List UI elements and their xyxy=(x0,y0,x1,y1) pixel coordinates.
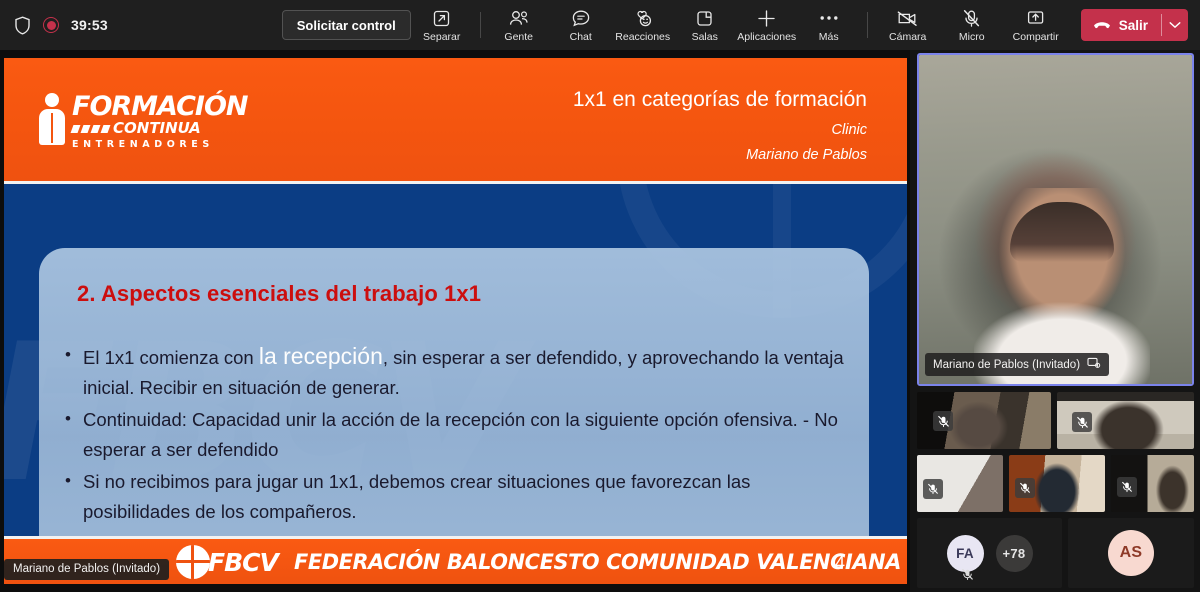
overflow-participants-badge[interactable]: +78 xyxy=(996,535,1033,572)
separate-label: Separar xyxy=(423,32,460,43)
toolbar-divider-2 xyxy=(867,12,868,38)
formacion-continua-logo: FORMACIÓN CONTINUA ENTRENADORES xyxy=(39,93,248,150)
mic-off-icon xyxy=(960,566,976,582)
participant-thumbnail[interactable] xyxy=(1057,392,1194,449)
people-button[interactable]: Gente xyxy=(488,2,550,48)
list-item: El 1x1 comienza con la recepción, sin es… xyxy=(55,341,855,403)
chat-button[interactable]: Chat xyxy=(550,2,612,48)
slide-title: 1x1 en categorías de formación xyxy=(573,88,867,112)
camera-label: Cámara xyxy=(889,32,926,43)
logo-stripes-icon xyxy=(71,125,111,133)
slide-header-text: 1x1 en categorías de formación Clinic Ma… xyxy=(573,88,867,163)
bullet-text-pre: Continuidad: Capacidad unir la acción de… xyxy=(83,409,838,460)
mic-label: Micro xyxy=(959,32,985,43)
bullet-list: El 1x1 comienza con la recepción, sin es… xyxy=(55,341,869,527)
bullet-highlight: la recepción xyxy=(259,343,383,369)
thumbnail-row xyxy=(917,455,1194,512)
panel-heading: 2. Aspectos esenciales del trabajo 1x1 xyxy=(77,281,869,307)
participant-thumbnail[interactable] xyxy=(917,392,1051,449)
presenter-name-overlay: Mariano de Pablos (Invitado) xyxy=(4,559,169,580)
people-icon xyxy=(508,7,530,29)
mic-toggle-button[interactable]: Micro xyxy=(941,2,1003,48)
slide-author: Mariano de Pablos xyxy=(573,147,867,163)
more-ellipsis-icon xyxy=(819,7,839,29)
breakout-icon xyxy=(695,7,714,29)
mic-off-icon xyxy=(1117,477,1137,497)
chat-label: Chat xyxy=(570,32,592,43)
people-label: Gente xyxy=(504,32,533,43)
mic-off-icon xyxy=(1015,478,1035,498)
fbcv-logo: FBCV xyxy=(176,545,278,579)
shield-icon xyxy=(14,16,31,35)
leave-options-button[interactable] xyxy=(1162,9,1188,41)
slide-subtitle: Clinic xyxy=(573,122,867,138)
share-up-icon xyxy=(1026,7,1045,29)
breakout-label: Salas xyxy=(692,32,718,43)
bullet-text-pre: Si no recibimos para jugar un 1x1, debem… xyxy=(83,471,750,522)
mic-off-icon xyxy=(933,411,953,431)
avatar-tile[interactable]: AS xyxy=(1068,518,1194,588)
more-label: Más xyxy=(819,32,839,43)
breakout-rooms-button[interactable]: Salas xyxy=(674,2,736,48)
list-item: Continuidad: Capacidad unir la acción de… xyxy=(55,405,855,465)
toolbar-right-group: Cámara Micro Compartir Sali xyxy=(860,2,1200,48)
request-control-button[interactable]: Solicitar control xyxy=(282,10,411,40)
shared-content-stage[interactable]: FBCV FORMACIÓN CONTINUA ENTRENADORES xyxy=(0,50,910,592)
avatar: AS xyxy=(1108,530,1154,576)
chevron-down-icon xyxy=(1169,16,1181,34)
mic-off-icon xyxy=(923,479,943,499)
active-speaker-name: Mariano de Pablos (Invitado) xyxy=(933,359,1080,371)
reactions-icon xyxy=(632,7,654,29)
logo-line1: FORMACIÓN xyxy=(72,94,248,120)
avatar-tile[interactable]: FA +78 xyxy=(917,518,1062,588)
more-button[interactable]: Más xyxy=(798,2,860,48)
leave-label: Salir xyxy=(1119,18,1148,33)
mic-off-icon xyxy=(962,7,981,29)
participant-thumbnails xyxy=(917,392,1194,512)
toolbar-left-group: 39:53 xyxy=(0,16,282,35)
federation-title: FEDERACIÓN BALONCESTO COMUNIDAD VALENCIA… xyxy=(294,550,901,575)
screen-share-icon xyxy=(1087,357,1101,372)
chat-icon xyxy=(571,7,591,29)
participant-thumbnail[interactable] xyxy=(917,455,1003,512)
slide-header: FORMACIÓN CONTINUA ENTRENADORES 1x1 en c… xyxy=(4,58,907,184)
logo-line3: ENTRENADORES xyxy=(72,139,248,150)
participants-rail: Mariano de Pablos (Invitado) xyxy=(910,50,1200,592)
apps-label: Aplicaciones xyxy=(737,32,796,43)
avatar-tiles: FA +78 AS xyxy=(917,518,1194,588)
camera-off-icon xyxy=(896,7,920,29)
apps-plus-icon xyxy=(756,7,777,29)
list-item: Si no recibimos para jugar un 1x1, debem… xyxy=(55,467,855,527)
thumbnail-row xyxy=(917,392,1194,449)
reactions-label: Reacciones xyxy=(615,32,670,43)
leave-meeting-button[interactable]: Salir xyxy=(1081,9,1161,41)
participant-thumbnail[interactable] xyxy=(1009,455,1105,512)
video-feed xyxy=(919,55,1192,384)
share-button[interactable]: Compartir xyxy=(1005,2,1067,48)
share-label: Compartir xyxy=(1013,32,1059,43)
active-speaker-video[interactable]: Mariano de Pablos (Invitado) xyxy=(917,53,1194,386)
presentation-slide: FBCV FORMACIÓN CONTINUA ENTRENADORES xyxy=(4,58,907,584)
toolbar-divider-1 xyxy=(480,12,481,38)
fbcv-wordmark: FBCV xyxy=(208,548,278,577)
coach-figure-icon xyxy=(39,93,65,145)
camera-toggle-button[interactable]: Cámara xyxy=(877,2,939,48)
teams-meeting-window: 39:53 Solicitar control Separar Gente xyxy=(0,0,1200,592)
bullet-text-pre: El 1x1 comienza con xyxy=(83,347,259,368)
apps-button[interactable]: Aplicaciones xyxy=(736,2,798,48)
slide-page-number: 4 xyxy=(835,553,845,574)
basketball-icon xyxy=(176,545,210,579)
leave-meeting-group: Salir xyxy=(1081,9,1188,41)
reactions-button[interactable]: Reacciones xyxy=(612,2,674,48)
hangup-icon xyxy=(1092,17,1112,33)
popout-icon xyxy=(432,7,451,29)
toolbar-center-group: Solicitar control Separar Gente Chat xyxy=(282,2,860,48)
meeting-timer: 39:53 xyxy=(71,17,108,33)
active-speaker-label: Mariano de Pablos (Invitado) xyxy=(925,353,1109,376)
meeting-toolbar: 39:53 Solicitar control Separar Gente xyxy=(0,0,1200,50)
participant-thumbnail[interactable] xyxy=(1111,455,1194,512)
slide-content-panel: 2. Aspectos esenciales del trabajo 1x1 E… xyxy=(39,248,869,563)
person-hair xyxy=(1010,202,1114,262)
logo-line2: CONTINUA xyxy=(113,121,201,136)
record-icon xyxy=(43,17,59,33)
mic-off-icon xyxy=(1072,412,1092,432)
separate-button[interactable]: Separar xyxy=(411,2,473,48)
